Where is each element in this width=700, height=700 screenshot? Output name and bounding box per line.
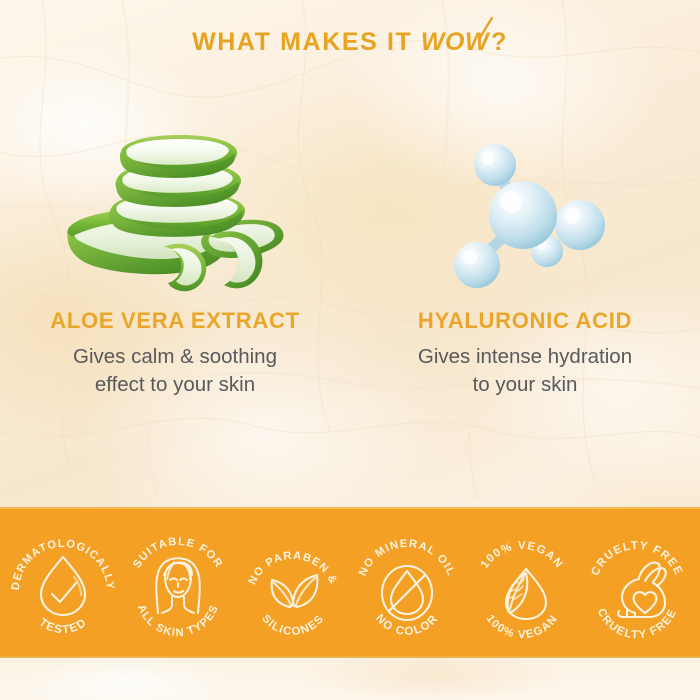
badge-100-percent-vegan: 100% VEGAN 100% VEGAN <box>468 521 576 645</box>
svg-text:NO COLOR: NO COLOR <box>373 611 441 637</box>
bottom-marble-band <box>0 658 700 700</box>
ingredient-card-aloe-vera: ALOE VERA EXTRACT Gives calm & soothing … <box>0 130 350 420</box>
badge-no-paraben-silicones: NO PARABEN & SILICONES <box>239 521 347 645</box>
ingredient-description-line-1: Gives calm & soothing <box>73 343 277 371</box>
svg-text:TESTED: TESTED <box>37 615 90 636</box>
badge-bottom-label: CRUELTY FREE <box>594 606 679 641</box>
badge-suitable-all-skin-types: SUITABLE FOR ALL SKIN TYPES <box>124 521 232 645</box>
badge-top-label: NO PARABEN & <box>246 549 339 586</box>
ingredients-row: ALOE VERA EXTRACT Gives calm & soothing … <box>0 130 700 420</box>
ingredient-description-line-1: Gives intense hydration <box>418 343 632 371</box>
ingredient-description-line-2: to your skin <box>418 371 632 399</box>
badge-bottom-label: TESTED <box>37 615 90 636</box>
badge-no-mineral-oil-no-color: NO MINERAL OIL NO COLOR <box>353 521 461 645</box>
ingredient-description-hyaluronic-acid: Gives intense hydration to your skin <box>418 343 632 399</box>
svg-text:SILICONES: SILICONES <box>259 612 326 638</box>
page-title-emphasis-wow: WOW <box>421 28 491 56</box>
svg-text:100% VEGAN: 100% VEGAN <box>479 539 565 570</box>
svg-text:NO PARABEN &: NO PARABEN & <box>246 549 339 586</box>
badge-bottom-label: NO COLOR <box>373 611 441 637</box>
svg-text:CRUELTY FREE: CRUELTY FREE <box>594 606 679 641</box>
swoosh-flourish-icon <box>478 17 494 39</box>
svg-text:DERMATOLOGICALLY: DERMATOLOGICALLY <box>10 537 116 590</box>
badge-top-label: DERMATOLOGICALLY <box>10 537 116 590</box>
svg-text:100% VEGAN: 100% VEGAN <box>484 612 561 641</box>
badge-dermatologically-tested: DERMATOLOGICALLY TESTED <box>9 521 117 645</box>
ingredient-description-line-2: effect to your skin <box>73 371 277 399</box>
certification-badge-strip: DERMATOLOGICALLY TESTED <box>0 507 700 658</box>
page-title-main: WHAT MAKES IT <box>192 28 421 56</box>
badge-top-label: SUITABLE FOR <box>131 535 225 570</box>
badge-cruelty-free: CRUELTY FREE CRUELTY FREE <box>583 521 691 645</box>
ingredient-description-aloe-vera: Gives calm & soothing effect to your ski… <box>73 343 277 399</box>
ingredient-card-hyaluronic-acid: HYALURONIC ACID Gives intense hydration … <box>350 130 700 420</box>
badge-top-label: CRUELTY FREE <box>589 539 684 577</box>
badge-bottom-label: 100% VEGAN <box>484 612 561 641</box>
svg-text:ALL SKIN TYPES: ALL SKIN TYPES <box>135 602 221 638</box>
page-title: WHAT MAKES IT WOW ? <box>0 28 700 57</box>
ingredient-title-hyaluronic-acid: HYALURONIC ACID <box>418 308 632 334</box>
ingredient-title-aloe-vera: ALOE VERA EXTRACT <box>50 308 299 334</box>
badge-bottom-label: SILICONES <box>259 612 326 638</box>
svg-text:CRUELTY FREE: CRUELTY FREE <box>589 539 684 577</box>
badge-bottom-label: ALL SKIN TYPES <box>135 602 221 638</box>
svg-text:SUITABLE FOR: SUITABLE FOR <box>131 535 225 570</box>
hyaluronic-acid-molecule-icon <box>435 130 615 300</box>
product-benefits-infographic: WHAT MAKES IT WOW ? <box>0 0 700 700</box>
aloe-vera-slices-icon <box>60 130 290 300</box>
badge-top-label: 100% VEGAN <box>479 539 565 570</box>
